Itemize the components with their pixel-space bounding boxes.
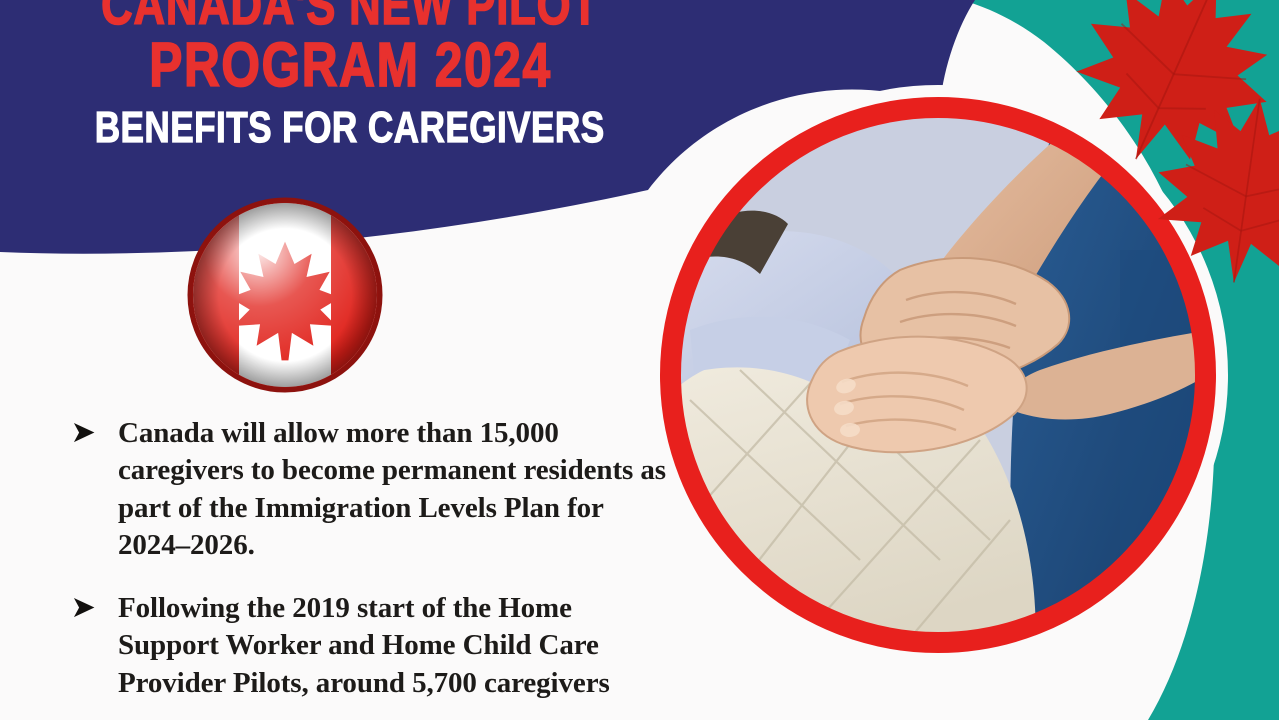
- bullet-list: ➤ Canada will allow more than 15,000 car…: [72, 415, 672, 720]
- bullet-text: Canada will allow more than 15,000 careg…: [118, 415, 672, 564]
- arrow-bullet-icon: ➤: [72, 415, 118, 447]
- title-line-2: PROGRAM 2024: [149, 35, 551, 97]
- list-item: ➤ Following the 2019 start of the Home S…: [72, 590, 672, 702]
- poster-canvas: CANADA'S NEW PILOT PROGRAM 2024 BENEFITS…: [0, 0, 1279, 720]
- arrow-bullet-icon: ➤: [72, 590, 118, 622]
- title-line-3: BENEFITS FOR CAREGIVERS: [95, 106, 605, 150]
- caregiver-hands-photo: [648, 85, 1228, 665]
- poster-title: CANADA'S NEW PILOT PROGRAM 2024 BENEFITS…: [0, 0, 700, 163]
- title-line-1: CANADA'S NEW PILOT: [101, 0, 599, 33]
- list-item: ➤ Canada will allow more than 15,000 car…: [72, 415, 672, 564]
- canada-flag-badge: [186, 196, 384, 394]
- bullet-text: Following the 2019 start of the Home Sup…: [118, 590, 672, 702]
